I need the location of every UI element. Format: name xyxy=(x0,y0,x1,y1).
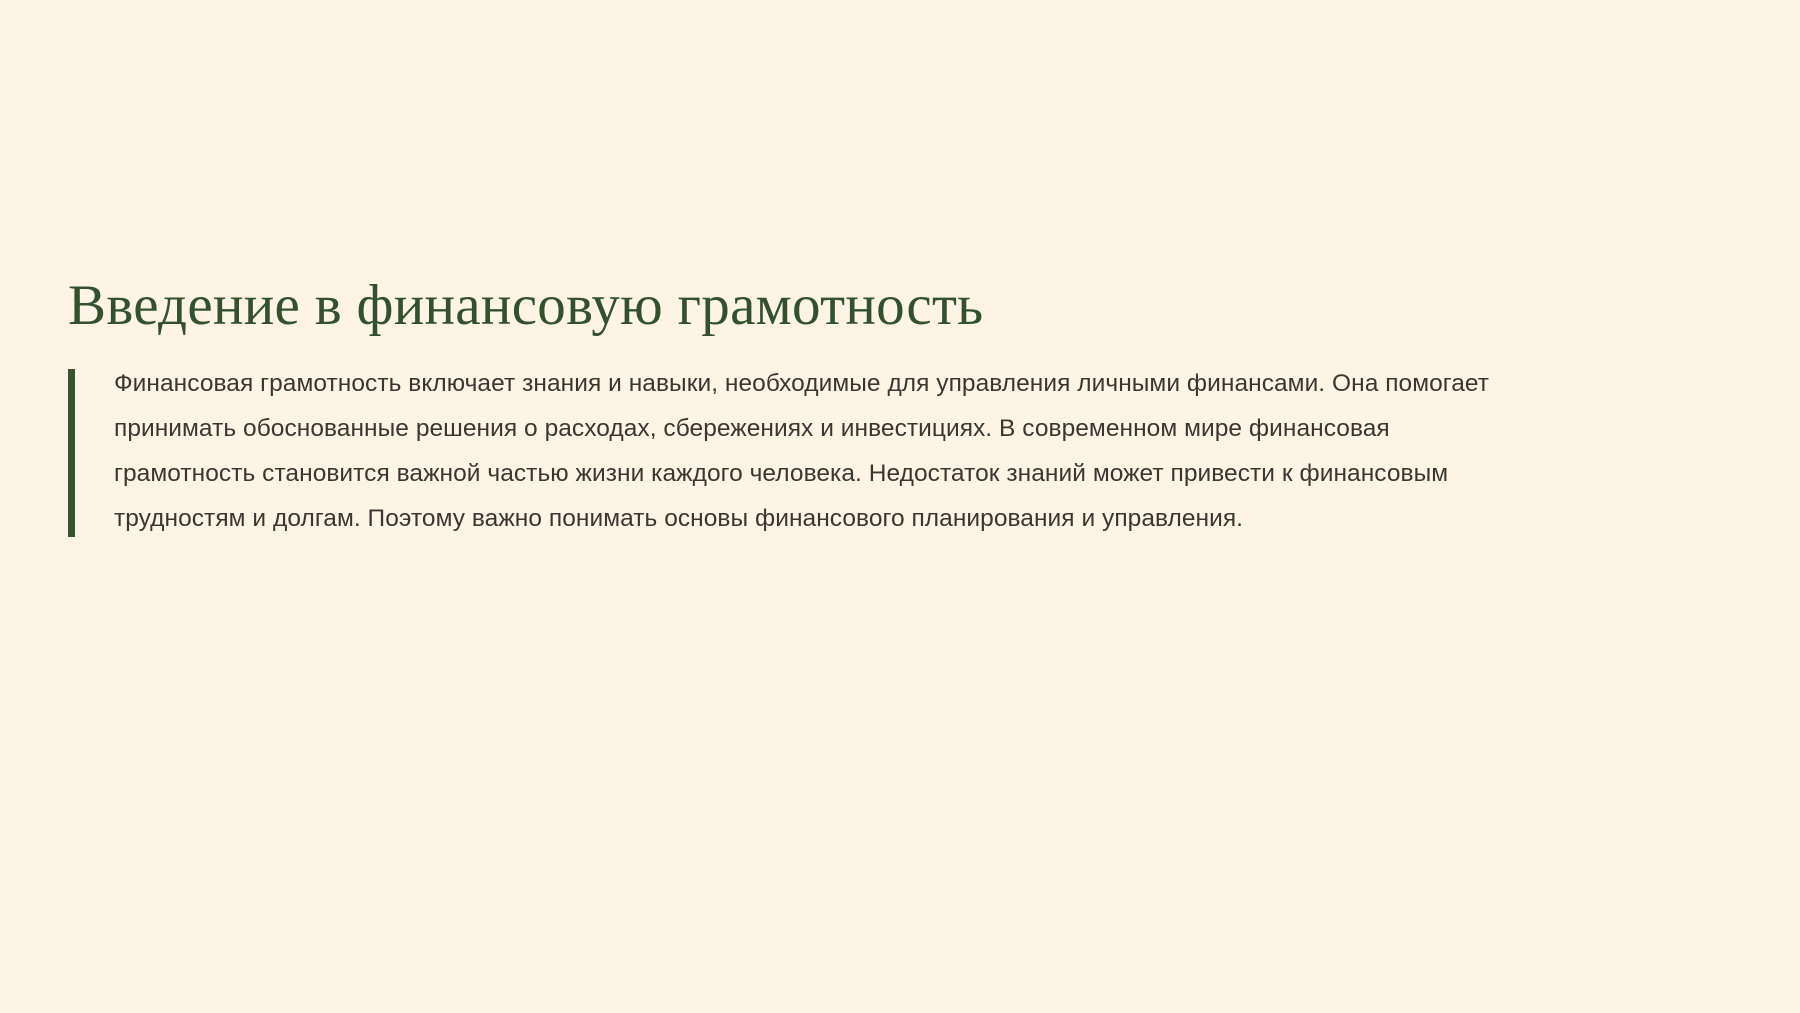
accent-bar xyxy=(68,369,75,537)
page-title: Введение в финансовую грамотность xyxy=(68,272,1728,339)
body-quote-block: Финансовая грамотность включает знания и… xyxy=(68,361,1728,541)
body-paragraph: Финансовая грамотность включает знания и… xyxy=(114,361,1514,541)
content-block: Введение в финансовую грамотность Финанс… xyxy=(68,272,1728,541)
slide-canvas: Введение в финансовую грамотность Финанс… xyxy=(0,0,1800,1013)
